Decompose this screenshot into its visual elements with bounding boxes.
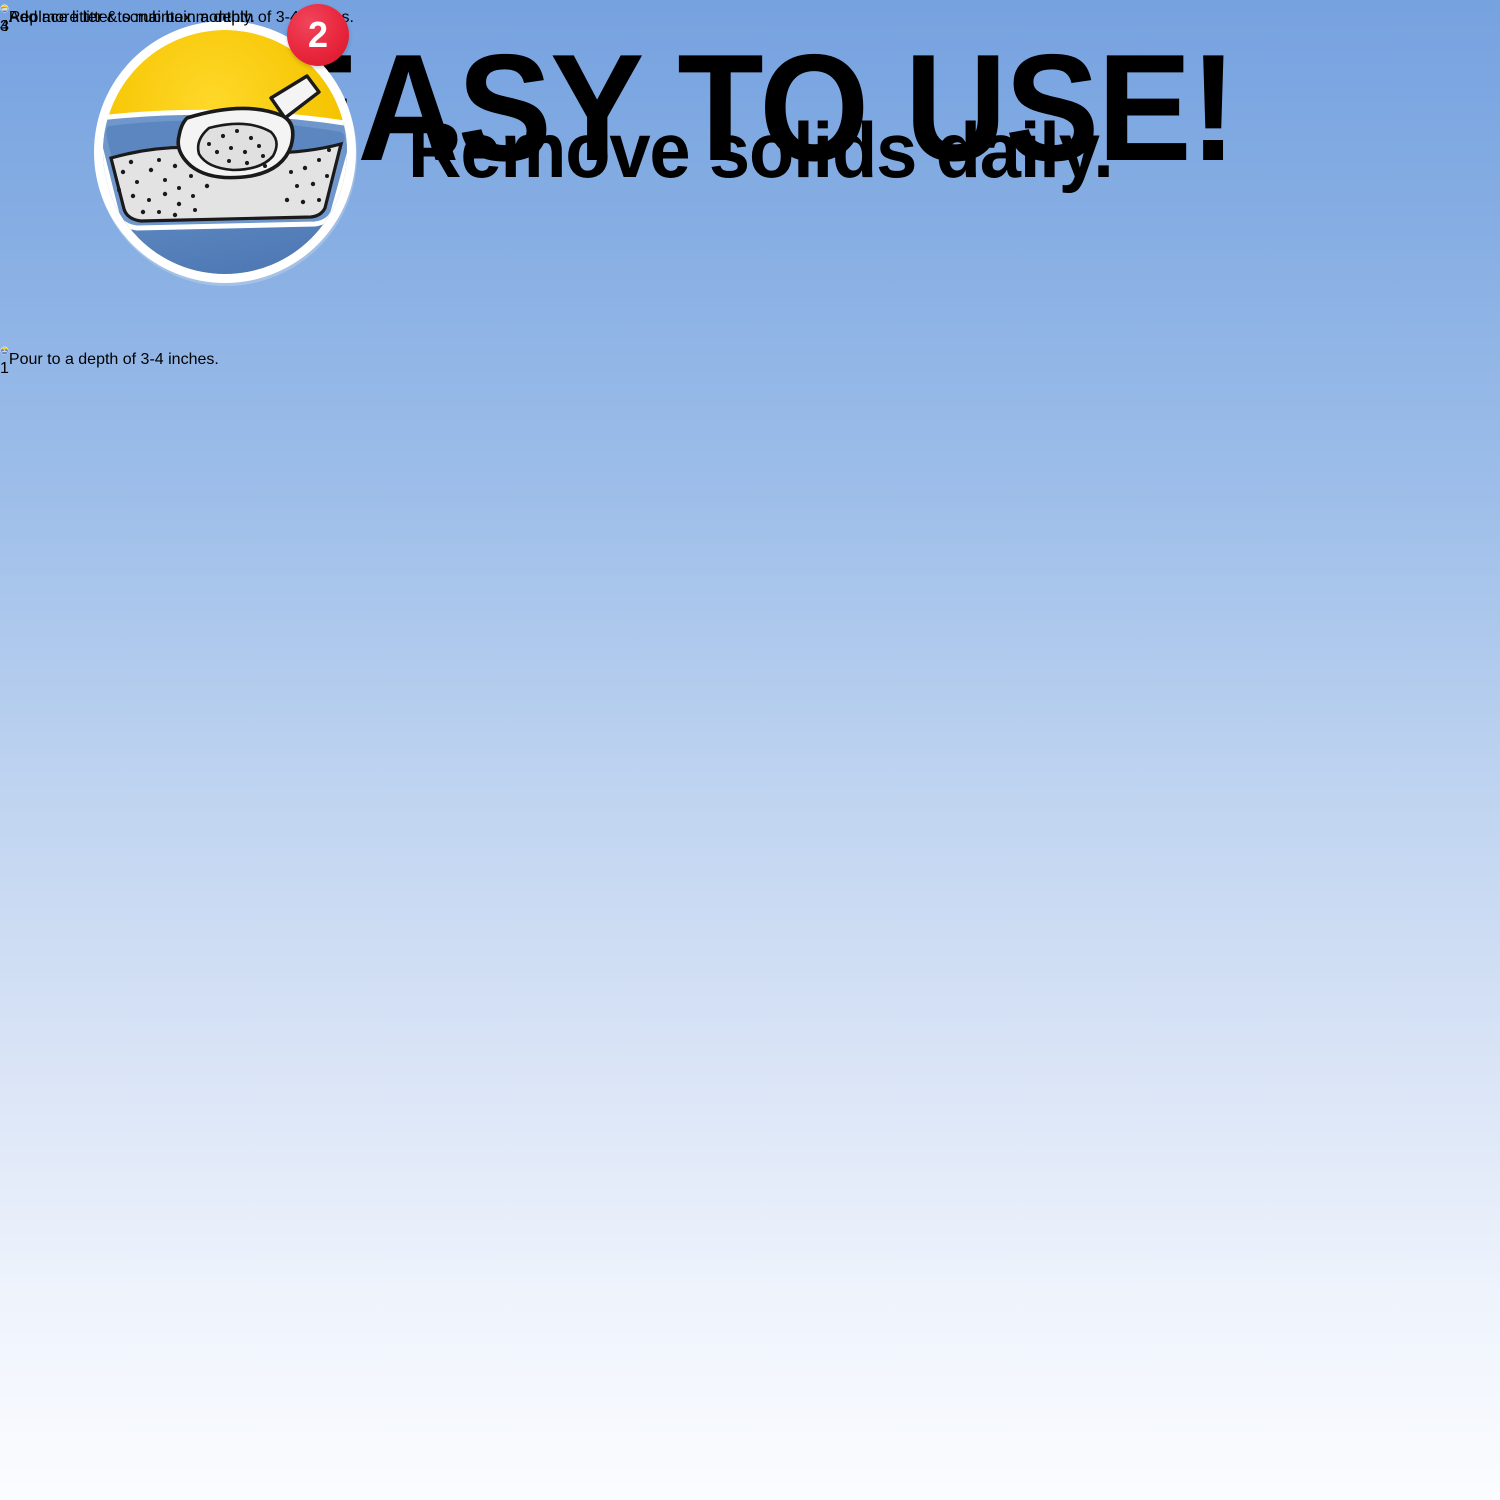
step-row-2: 2 Remove solids daily. xyxy=(0,0,1500,300)
instruction-card: EASY TO USE! xyxy=(0,0,1500,1500)
scoop-solids-icon: 2 xyxy=(75,0,375,300)
pour-litter-icon: 1 xyxy=(0,342,9,378)
step-text-1: Pour to a depth of 3-4 inches. xyxy=(9,351,219,369)
step-badge-4: 4 xyxy=(0,18,9,36)
replace-litter-icon: 4 xyxy=(0,0,9,36)
step-text-2: Remove solids daily. xyxy=(408,100,1113,200)
step-text-4: Replace litter & scrub box monthly. xyxy=(9,9,255,27)
step-badge-2: 2 xyxy=(287,4,349,66)
step-badge-1: 1 xyxy=(0,360,9,378)
step-row-4: 4 Replace litter & scrub box monthly. xyxy=(0,0,1500,36)
